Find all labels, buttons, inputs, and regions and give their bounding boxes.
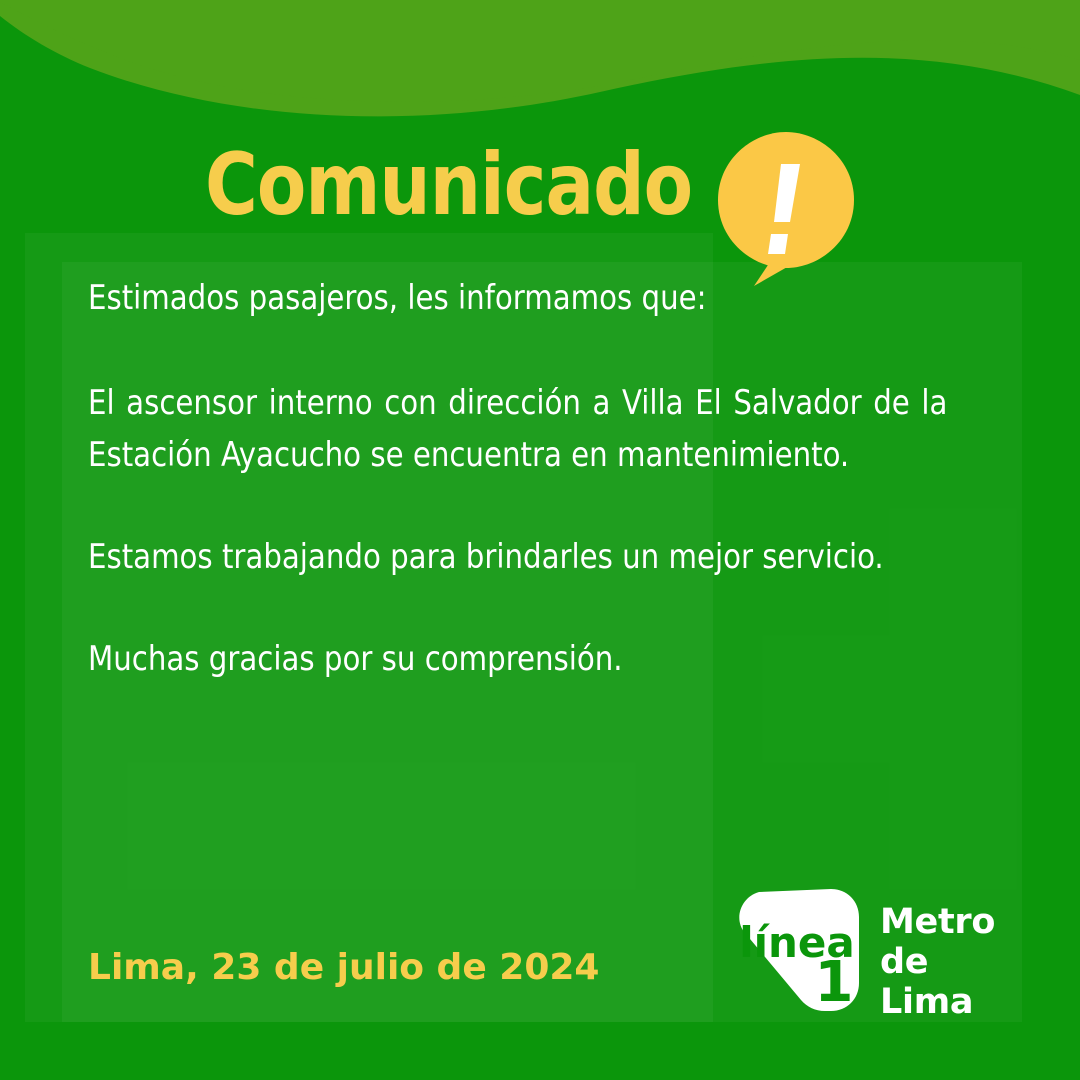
exclamation-speech-bubble-icon: [716, 130, 856, 288]
paragraph-1-text: El ascensor interno con dirección a Vill…: [88, 377, 947, 481]
paragraph-3-text: Muchas gracias por su comprensión.: [88, 633, 947, 685]
linea-1-logo-mark-icon: línea 1: [735, 885, 865, 1015]
announcement-canvas: Comunicado Estimados pasajeros, les info…: [0, 0, 1080, 1080]
page-title: Comunicado: [205, 142, 692, 228]
logo-name-line-1: Metro: [880, 902, 1015, 942]
paragraph-spacer: [88, 481, 974, 531]
dateline: Lima, 23 de julio de 2024: [88, 947, 599, 988]
paragraph-spacer: [88, 324, 974, 377]
announcement-body: Estimados pasajeros, les informamos que:…: [88, 272, 974, 685]
logo-name-line-2: de Lima: [880, 942, 1015, 1022]
paragraph-2-text: Estamos trabajando para brindarles un me…: [88, 531, 947, 583]
linea-1-metro-de-lima-logo: línea 1 Metro de Lima: [735, 885, 1015, 1015]
paragraph-spacer: [88, 583, 974, 633]
salutation-text: Estimados pasajeros, les informamos que:: [88, 272, 947, 324]
header: Comunicado: [0, 70, 1080, 220]
logo-wordmark: Metro de Lima: [880, 902, 1015, 1022]
logo-mark-number: 1: [815, 950, 854, 1015]
